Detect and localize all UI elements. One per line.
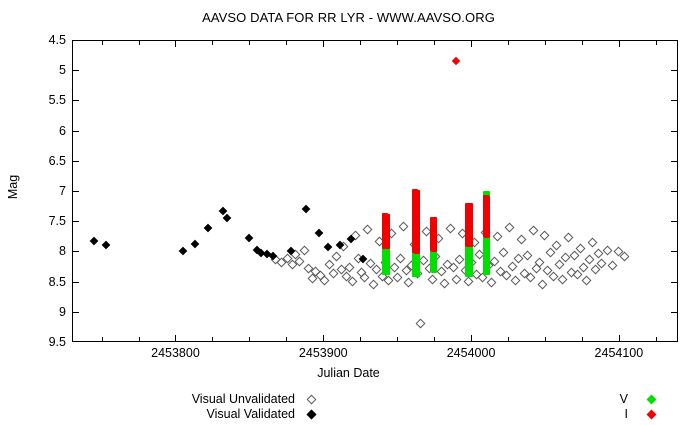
y-axis-title: Mag	[6, 157, 20, 217]
data-point-unvalidated	[502, 271, 512, 281]
data-point-unvalidated	[487, 277, 497, 287]
data-point-i-band	[484, 232, 490, 238]
legend-entry[interactable]: Visual Unvalidated	[120, 392, 295, 407]
data-point-unvalidated	[348, 277, 358, 287]
y-tick-label: 9.5	[49, 335, 66, 349]
chart-container: AAVSO DATA FOR RR LYR - WWW.AAVSO.ORG 4.…	[0, 0, 697, 425]
data-point-unvalidated	[573, 270, 583, 280]
data-point-validated	[323, 242, 331, 250]
y-tick-label: 9	[59, 305, 66, 319]
data-point-validated	[204, 224, 212, 232]
data-point-unvalidated	[392, 273, 402, 283]
data-point-unvalidated	[389, 262, 399, 272]
data-point-unvalidated	[587, 238, 597, 248]
legend-marker-open-diamond-icon	[307, 395, 317, 405]
y-tick-label: 6.5	[49, 154, 66, 168]
data-point-unvalidated	[332, 251, 342, 261]
data-point-unvalidated	[510, 275, 520, 285]
y-tick-label: 7	[59, 184, 66, 198]
data-point-validated	[190, 240, 198, 248]
data-point-unvalidated	[437, 267, 447, 277]
data-point-unvalidated	[445, 223, 455, 233]
data-point-validated	[90, 236, 98, 244]
data-point-unvalidated	[558, 274, 568, 284]
data-point-v-band	[431, 267, 437, 273]
data-point-unvalidated	[463, 277, 473, 287]
data-point-unvalidated	[575, 243, 585, 253]
legend-marker-green-diamond-icon	[647, 395, 657, 405]
data-point-i-band	[467, 241, 473, 247]
legend-label: V	[620, 392, 628, 407]
data-point-v-band	[384, 269, 390, 275]
x-tick-label: 2453900	[299, 346, 348, 360]
data-point-unvalidated	[404, 278, 414, 288]
legend-marker-filled-diamond-icon	[307, 410, 317, 420]
data-point-validated	[245, 234, 253, 242]
x-tick-label: 2453800	[151, 346, 200, 360]
data-point-validated	[315, 229, 323, 237]
y-tick-label: 8.5	[49, 275, 66, 289]
data-point-unvalidated	[508, 262, 518, 272]
data-point-unvalidated	[369, 280, 379, 290]
data-point-unvalidated	[581, 276, 591, 286]
y-tick-label: 7.5	[49, 214, 66, 228]
data-point-unvalidated	[620, 251, 630, 261]
data-point-v-band	[467, 271, 473, 277]
data-point-unvalidated	[505, 222, 515, 232]
legend-label: Visual Unvalidated	[192, 392, 295, 407]
y-tick-label: 6	[59, 124, 66, 138]
data-point-unvalidated	[398, 222, 408, 232]
data-point-unvalidated	[448, 263, 458, 273]
x-tick-label: 2454100	[595, 346, 644, 360]
y-tick-label: 8	[59, 244, 66, 258]
x-tick-label: 2454000	[447, 346, 496, 360]
data-point-unvalidated	[555, 260, 565, 270]
data-points-layer	[72, 40, 678, 342]
legend-entry[interactable]: V	[560, 392, 670, 407]
x-axis-tick-labels: 2453800245390024540002454100	[72, 346, 678, 366]
chart-legend: Visual UnvalidatedVisual ValidatedVI	[0, 392, 697, 425]
data-point-unvalidated	[451, 274, 461, 284]
x-axis-title: Julian Date	[0, 366, 697, 380]
data-point-unvalidated	[493, 232, 503, 242]
data-point-unvalidated	[608, 261, 618, 271]
data-point-unvalidated	[522, 251, 532, 261]
y-tick-label: 4.5	[49, 33, 66, 47]
legend-label: Visual Validated	[207, 407, 296, 422]
data-point-unvalidated	[454, 254, 464, 264]
legend-entry[interactable]: I	[560, 407, 670, 422]
data-point-i-band	[384, 243, 390, 249]
data-point-validated	[223, 214, 231, 222]
data-point-unvalidated	[584, 255, 594, 265]
data-point-unvalidated	[428, 275, 438, 285]
data-point-unvalidated	[395, 253, 405, 263]
y-axis-tick-labels: 4.555.566.577.588.599.5	[18, 40, 66, 342]
data-point-v-band	[484, 269, 490, 275]
data-point-validated	[179, 247, 187, 255]
data-point-unvalidated	[416, 319, 426, 329]
legend-marker-red-diamond-icon	[647, 410, 657, 420]
legend-label: I	[625, 407, 628, 422]
data-point-unvalidated	[564, 233, 574, 243]
data-point-unvalidated	[440, 278, 450, 288]
data-point-validated	[102, 241, 110, 249]
data-point-unvalidated	[537, 279, 547, 289]
data-point-unvalidated	[360, 272, 370, 282]
chart-title: AAVSO DATA FOR RR LYR - WWW.AAVSO.ORG	[0, 10, 697, 25]
y-tick-label: 5.5	[49, 93, 66, 107]
legend-entry[interactable]: Visual Validated	[120, 407, 295, 422]
data-point-unvalidated	[516, 235, 526, 245]
data-point-i-band	[414, 248, 420, 254]
data-point-unvalidated	[602, 245, 612, 255]
data-point-i-band	[431, 246, 437, 252]
y-tick-label: 5	[59, 63, 66, 77]
data-point-unvalidated	[528, 226, 538, 236]
data-point-v-band	[414, 271, 420, 277]
data-point-unvalidated	[540, 230, 550, 240]
data-point-i-band-outlier	[452, 57, 460, 65]
data-point-unvalidated	[552, 240, 562, 250]
data-point-unvalidated	[578, 262, 588, 272]
data-point-unvalidated	[499, 248, 509, 258]
data-point-unvalidated	[363, 225, 373, 235]
data-point-unvalidated	[320, 275, 330, 285]
data-point-validated	[301, 205, 309, 213]
